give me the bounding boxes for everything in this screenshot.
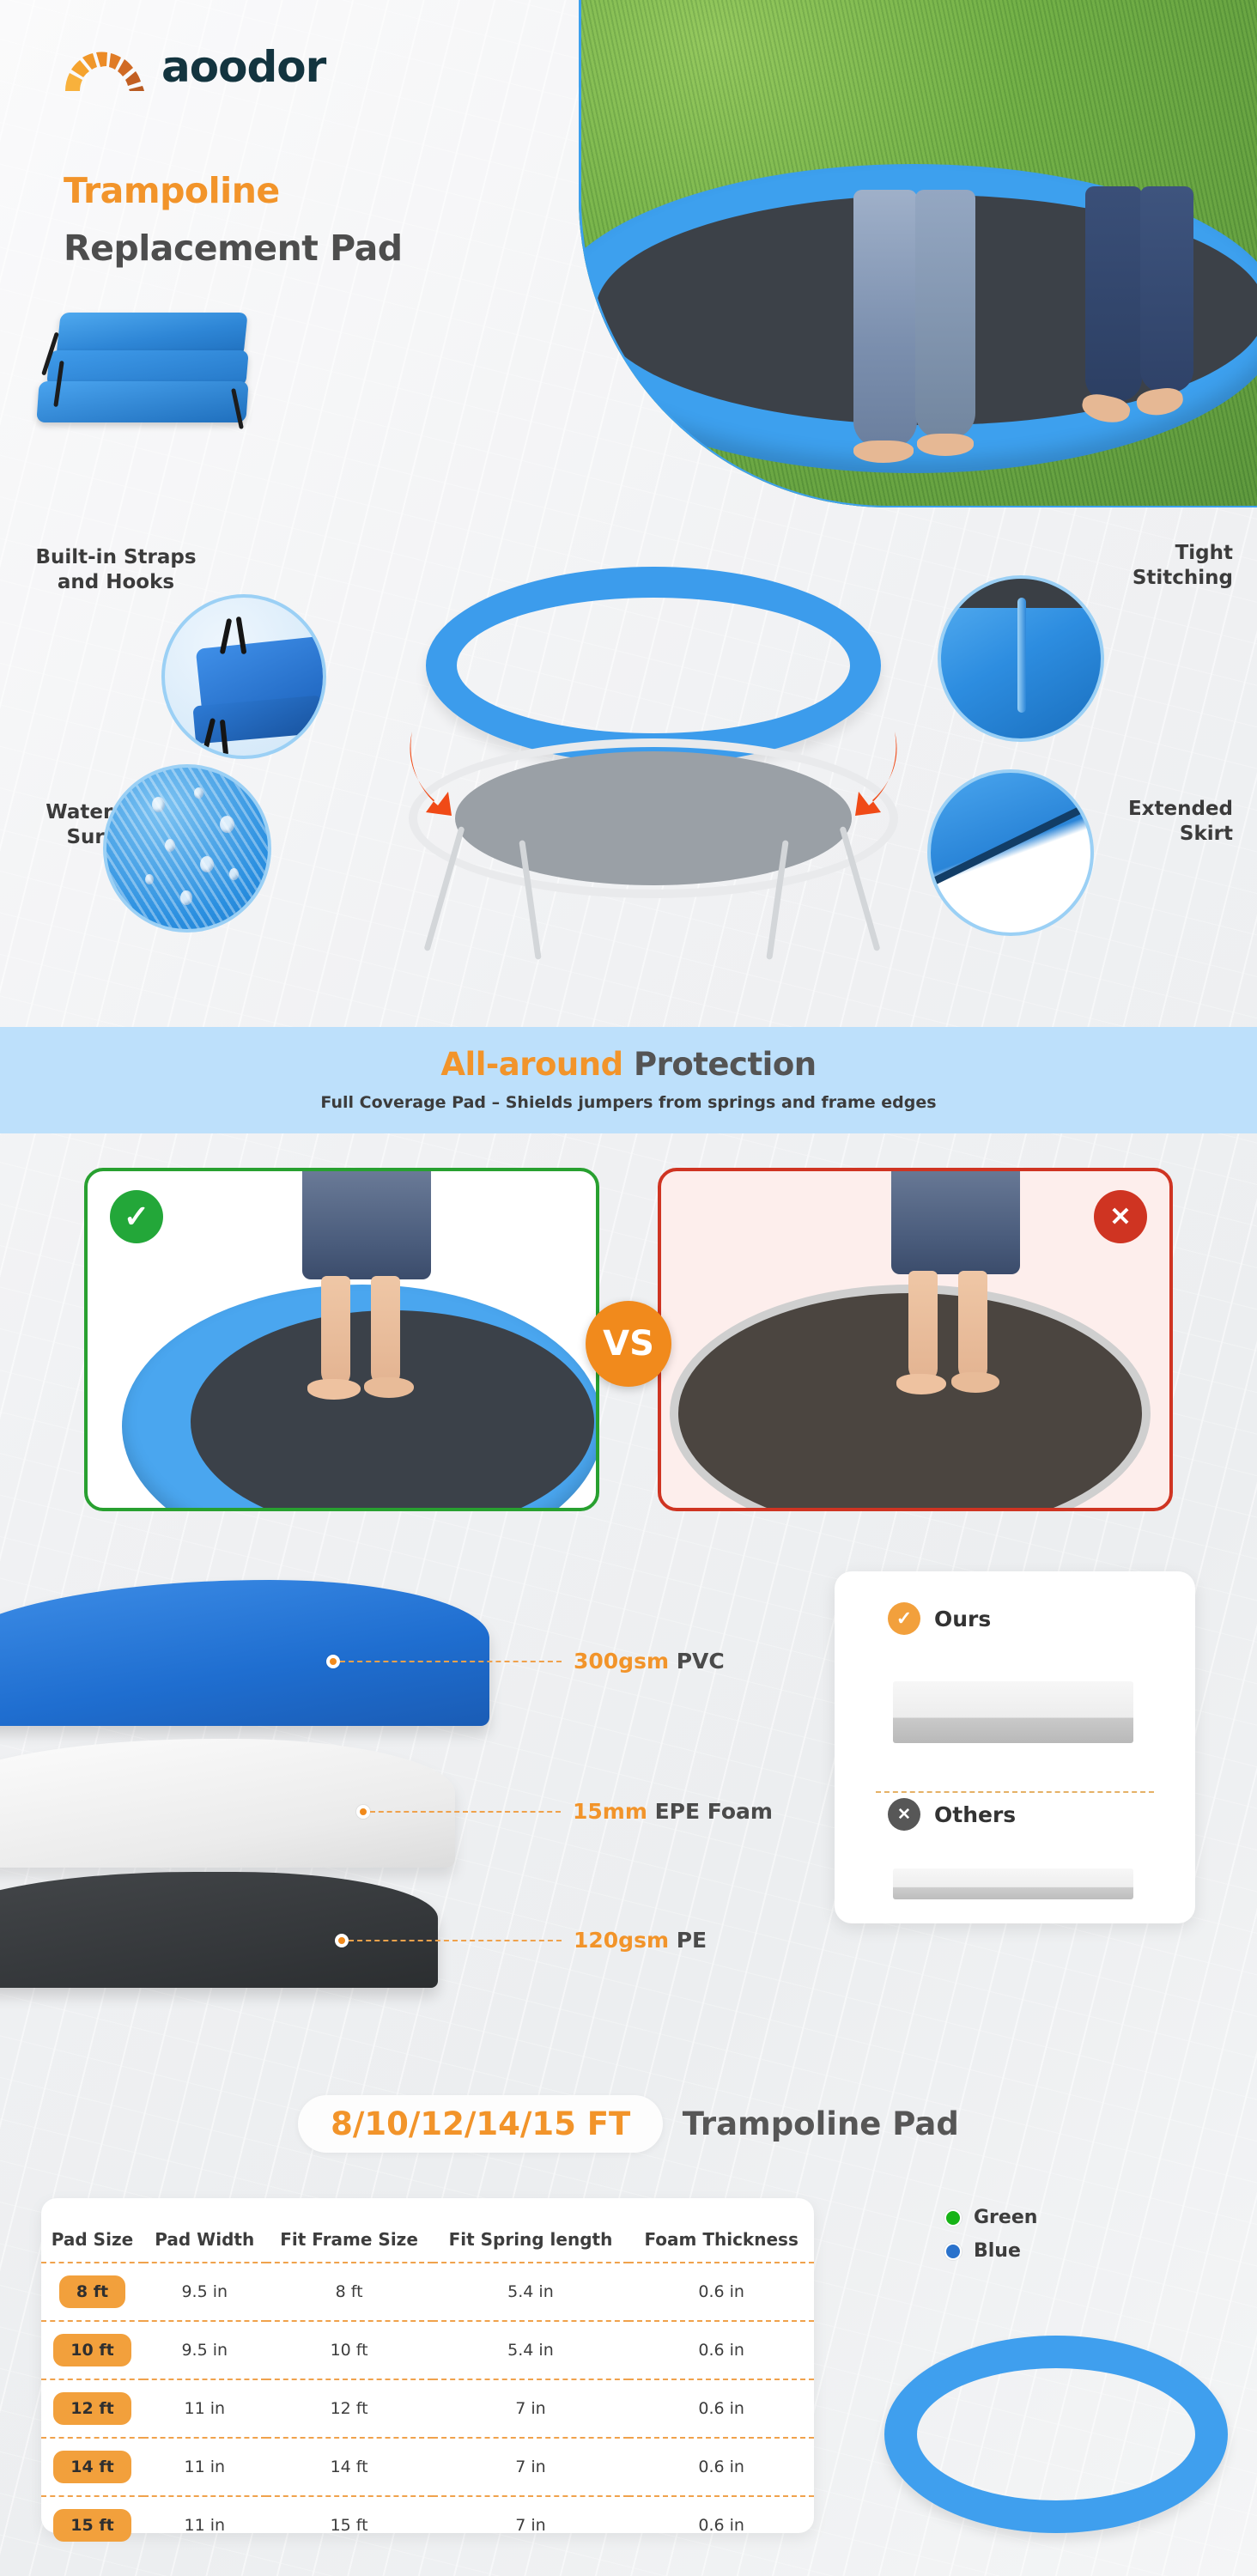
bad-trampoline-photo xyxy=(661,1171,1169,1508)
cell-foam-thick: 0.6 in xyxy=(628,2321,814,2379)
comparison-section: ✓ ✕ VS xyxy=(0,1151,1257,1546)
material-callout-pvc: 300gsm PVC xyxy=(326,1649,725,1674)
quality-comparison-card: ✓ Ours ✕ Others xyxy=(835,1571,1195,1923)
material-callout-pvc-text: 300gsm PVC xyxy=(574,1649,725,1674)
size-heading: 8/10/12/14/15 FT Trampoline Pad xyxy=(0,2095,1257,2153)
install-arrow-left-icon xyxy=(404,726,481,821)
size-heading-tail: Trampoline Pad xyxy=(683,2105,959,2142)
cell-pad-width: 9.5 in xyxy=(143,2263,266,2321)
banner-subtitle: Full Coverage Pad – Shields jumpers from… xyxy=(0,1093,1257,1112)
cell-fit-frame: 14 ft xyxy=(266,2438,433,2496)
cell-pad-width: 11 in xyxy=(143,2438,266,2496)
cell-foam-thick: 0.6 in xyxy=(628,2496,814,2554)
table-row: 10 ft 9.5 in 10 ft 5.4 in 0.6 in xyxy=(41,2321,814,2379)
bad-kid-leg-right xyxy=(958,1271,987,1382)
protection-banner: All-around Protection Full Coverage Pad … xyxy=(0,1027,1257,1133)
feature-label-straps: Built-in Straps and Hooks xyxy=(26,545,206,595)
material-pvc-value: 300gsm xyxy=(574,1649,669,1674)
good-kid-leg-left xyxy=(321,1276,350,1388)
jumper-foot-b xyxy=(917,434,974,456)
cell-pad-width: 11 in xyxy=(143,2496,266,2554)
waterproof-closeup-icon xyxy=(103,764,271,933)
cell-fit-spring: 7 in xyxy=(433,2438,629,2496)
hero-photo xyxy=(579,0,1257,507)
good-kid-leg-right xyxy=(371,1276,400,1388)
size-table-card: Pad Size Pad Width Fit Frame Size Fit Sp… xyxy=(41,2198,814,2533)
callout-leader-line xyxy=(370,1811,561,1813)
material-pvc-name: PVC xyxy=(677,1649,725,1674)
th-foam-thick: Foam Thickness xyxy=(628,2215,814,2263)
table-row: 12 ft 11 in 12 ft 7 in 0.6 in xyxy=(41,2379,814,2438)
others-header: ✕ Others xyxy=(835,1571,1016,1831)
cross-mark-icon: ✕ xyxy=(1094,1190,1147,1243)
others-label: Others xyxy=(934,1802,1016,1827)
brand-name: aoodor xyxy=(161,42,325,92)
cell-pad-size: 15 ft xyxy=(41,2496,143,2554)
cell-pad-width: 11 in xyxy=(143,2379,266,2438)
green-swatch-icon xyxy=(944,2209,962,2227)
brand-logo: aoodor xyxy=(62,41,325,93)
good-kid-skirt xyxy=(302,1168,431,1279)
callout-dot-icon xyxy=(356,1805,370,1819)
callout-dot-icon xyxy=(335,1934,349,1947)
sunburst-icon xyxy=(62,41,148,93)
straps-hooks-closeup-icon xyxy=(161,594,326,759)
legend-label-green: Green xyxy=(974,2207,1037,2228)
jumper-leg-left-b xyxy=(915,190,975,439)
jumper-leg-right-b xyxy=(1140,186,1193,392)
size-tag: 12 ft xyxy=(53,2392,131,2425)
callout-leader-line xyxy=(349,1940,562,1941)
folded-pad-stack-image xyxy=(26,309,283,447)
hero-section: aoodor Trampoline Replacement Pad xyxy=(0,0,1257,515)
cell-fit-frame: 8 ft xyxy=(266,2263,433,2321)
jumper-leg-right-a xyxy=(1085,186,1142,401)
cell-fit-spring: 7 in xyxy=(433,2379,629,2438)
hero-title-line1: Trampoline xyxy=(64,170,280,211)
table-row: 8 ft 9.5 in 8 ft 5.4 in 0.6 in xyxy=(41,2263,814,2321)
x-circle-icon: ✕ xyxy=(888,1798,920,1831)
material-pe-name: PE xyxy=(677,1928,707,1953)
th-fit-spring: Fit Spring length xyxy=(433,2215,629,2263)
jumper-leg-left-a xyxy=(853,190,917,447)
bad-kid-leg-left xyxy=(908,1271,938,1382)
cell-fit-frame: 10 ft xyxy=(266,2321,433,2379)
legend-item-blue: Blue xyxy=(944,2240,1037,2262)
material-pe-value: 120gsm xyxy=(574,1928,669,1953)
install-arrow-right-icon xyxy=(826,726,903,821)
th-pad-width: Pad Width xyxy=(143,2215,266,2263)
legend-item-green: Green xyxy=(944,2207,1037,2228)
size-table: Pad Size Pad Width Fit Frame Size Fit Sp… xyxy=(41,2215,814,2554)
good-kid-foot-left xyxy=(307,1379,361,1400)
feature-label-stitching-line1: Tight xyxy=(1061,541,1233,566)
bad-kid-foot-right xyxy=(951,1372,999,1393)
features-section: Built-in Straps and Hooks Waterproof Sur… xyxy=(0,515,1257,1013)
good-trampoline-photo xyxy=(88,1171,596,1508)
comparison-good-panel: ✓ xyxy=(84,1168,599,1511)
banner-title-rest: Protection xyxy=(634,1046,817,1083)
th-fit-frame: Fit Frame Size xyxy=(266,2215,433,2263)
cell-pad-size: 10 ft xyxy=(41,2321,143,2379)
material-callout-pe: 120gsm PE xyxy=(335,1928,707,1953)
callout-dot-icon xyxy=(326,1655,340,1668)
pad-ring-product-image xyxy=(876,2318,1236,2550)
cell-fit-spring: 5.4 in xyxy=(433,2321,629,2379)
legend-label-blue: Blue xyxy=(974,2240,1021,2262)
cell-pad-size: 14 ft xyxy=(41,2438,143,2496)
size-tag: 15 ft xyxy=(53,2509,131,2542)
stitching-closeup-icon xyxy=(938,575,1104,742)
size-range-pill: 8/10/12/14/15 FT xyxy=(298,2095,663,2153)
feature-label-straps-line2: and Hooks xyxy=(26,570,206,595)
good-kid-foot-right xyxy=(364,1377,414,1398)
trampoline-mat xyxy=(596,195,1257,425)
cell-foam-thick: 0.6 in xyxy=(628,2263,814,2321)
diagram-pad-ring xyxy=(426,567,881,764)
cell-pad-size: 8 ft xyxy=(41,2263,143,2321)
material-callout-foam-text: 15mm EPE Foam xyxy=(573,1799,773,1824)
callout-leader-line xyxy=(340,1661,562,1662)
check-mark-icon: ✓ xyxy=(110,1190,163,1243)
banner-title: All-around Protection xyxy=(0,1046,1257,1083)
cell-foam-thick: 0.6 in xyxy=(628,2438,814,2496)
pad-ring-shape xyxy=(884,2336,1228,2533)
size-tag: 14 ft xyxy=(53,2451,131,2483)
feature-label-straps-line1: Built-in Straps xyxy=(26,545,206,570)
material-foam-name: EPE Foam xyxy=(655,1799,773,1824)
bad-kid-skirt xyxy=(891,1168,1020,1274)
infographic-page: aoodor Trampoline Replacement Pad Built-… xyxy=(0,0,1257,2576)
blue-swatch-icon xyxy=(944,2243,962,2260)
size-tag: 8 ft xyxy=(59,2275,125,2308)
vs-badge: VS xyxy=(586,1301,671,1387)
cell-fit-spring: 7 in xyxy=(433,2496,629,2554)
table-row: 14 ft 11 in 14 ft 7 in 0.6 in xyxy=(41,2438,814,2496)
table-row: 15 ft 11 in 15 ft 7 in 0.6 in xyxy=(41,2496,814,2554)
cell-fit-spring: 5.4 in xyxy=(433,2263,629,2321)
others-thin-slab xyxy=(893,1868,1133,1899)
diagram-jump-mat xyxy=(455,751,852,885)
cell-fit-frame: 15 ft xyxy=(266,2496,433,2554)
color-legend: Green Blue xyxy=(944,2207,1037,2274)
size-tag: 10 ft xyxy=(53,2334,131,2366)
table-header-row: Pad Size Pad Width Fit Frame Size Fit Sp… xyxy=(41,2215,814,2263)
pad-fold-bottom xyxy=(36,381,248,422)
hero-title-line2: Replacement Pad xyxy=(64,228,403,269)
material-callout-pe-text: 120gsm PE xyxy=(574,1928,707,1953)
cell-fit-frame: 12 ft xyxy=(266,2379,433,2438)
material-callout-foam: 15mm EPE Foam xyxy=(356,1799,773,1824)
material-foam-value: 15mm xyxy=(573,1799,647,1824)
banner-title-highlight: All-around xyxy=(440,1046,622,1083)
bad-kid-foot-left xyxy=(896,1374,946,1394)
trampoline-exploded-diagram xyxy=(386,567,919,970)
skirt-closeup-icon xyxy=(927,769,1094,936)
th-pad-size: Pad Size xyxy=(41,2215,143,2263)
comparison-bad-panel: ✕ xyxy=(658,1168,1173,1511)
cell-foam-thick: 0.6 in xyxy=(628,2379,814,2438)
cell-pad-size: 12 ft xyxy=(41,2379,143,2438)
cell-pad-width: 9.5 in xyxy=(143,2321,266,2379)
jumper-foot-a xyxy=(853,440,914,463)
